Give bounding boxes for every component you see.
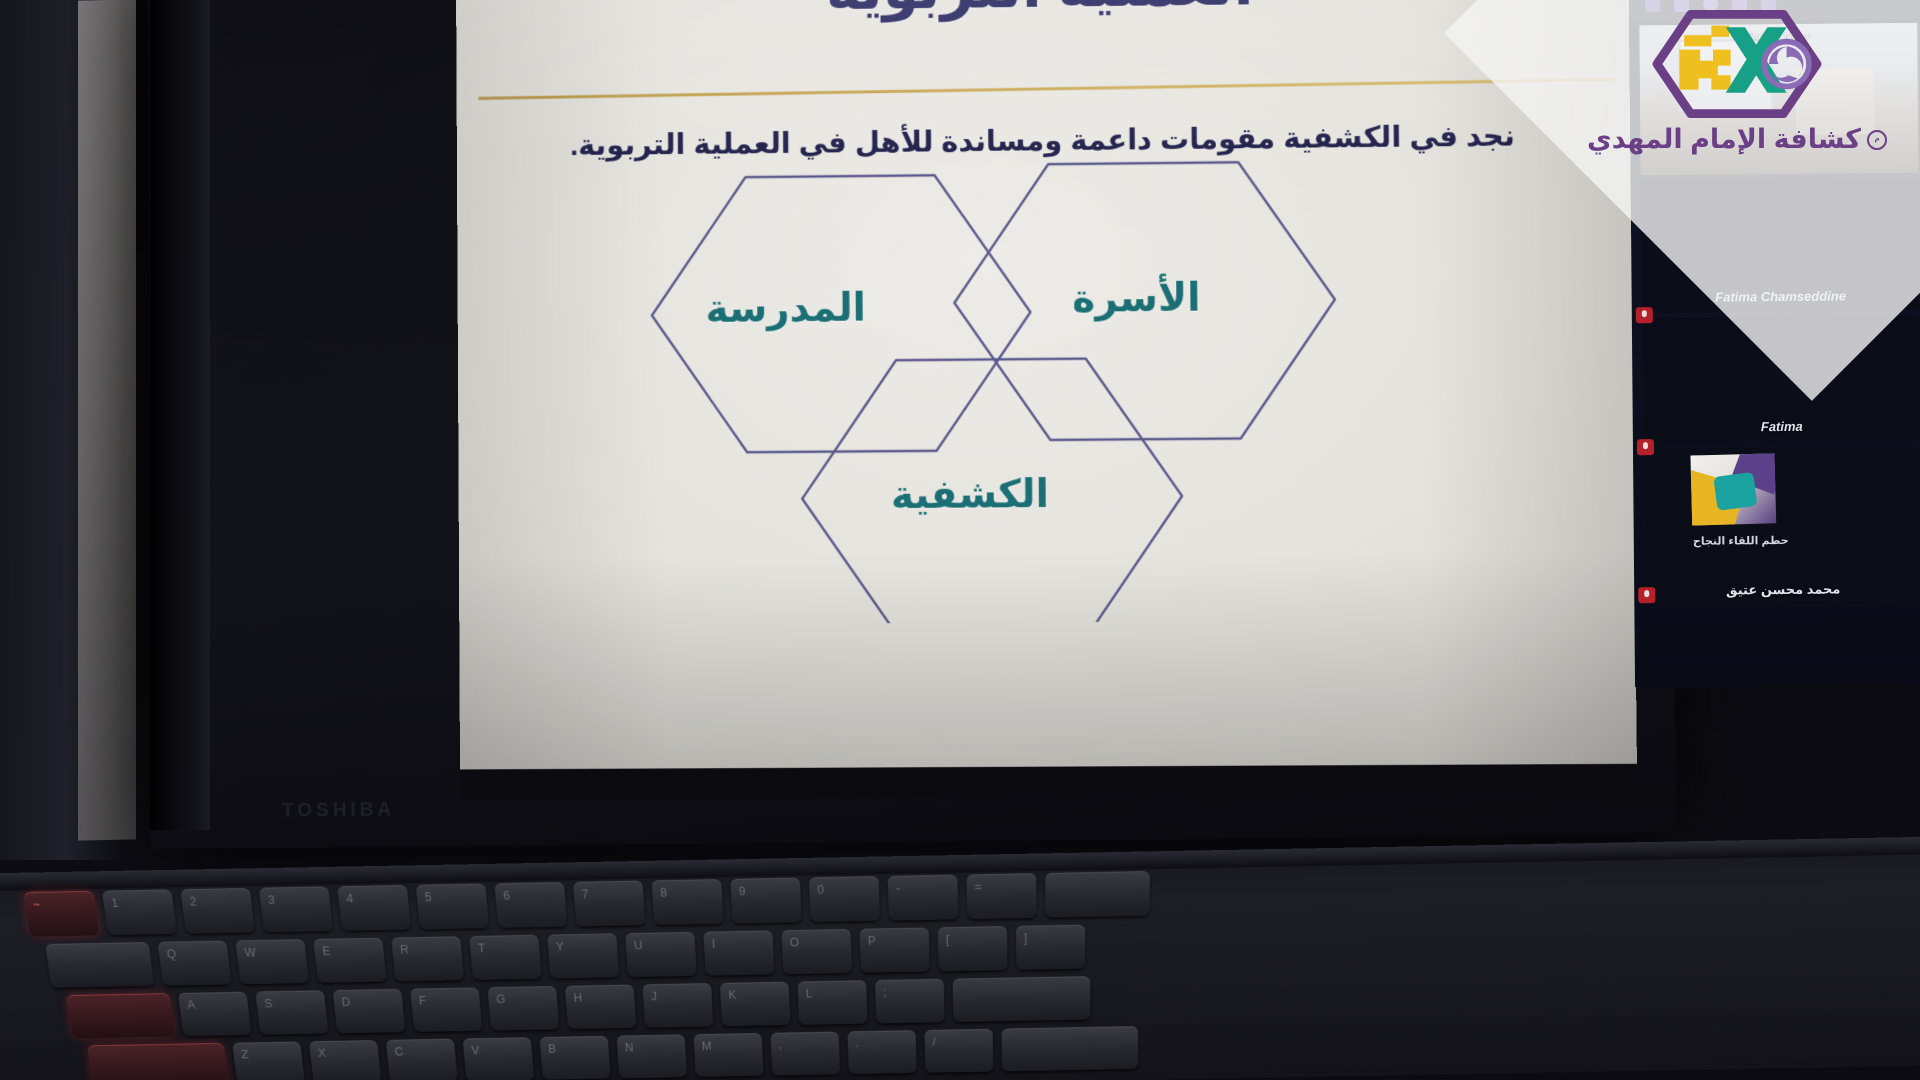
participant-name: حطم اللقاء النجاح <box>1656 534 1826 548</box>
key-enter[interactable] <box>953 976 1091 1022</box>
key-t[interactable]: T <box>469 935 542 980</box>
key-shift-left[interactable] <box>87 1043 228 1080</box>
hexagon-venn-diagram: المدرسة الأسرة الكشفية <box>544 147 1548 625</box>
laptop-base: ~ 1 2 3 4 5 6 7 8 9 0 - = Q W E R <box>0 836 1920 1080</box>
key-y[interactable]: Y <box>547 933 619 978</box>
key-2[interactable]: 2 <box>180 888 255 934</box>
key-a[interactable]: A <box>178 992 252 1036</box>
key-equals[interactable]: = <box>966 873 1036 919</box>
key-u[interactable]: U <box>625 932 697 977</box>
key-v[interactable]: V <box>463 1037 535 1080</box>
key-h[interactable]: H <box>565 985 637 1030</box>
participant-tile[interactable]: Fatima <box>1642 315 1920 443</box>
key-8[interactable]: 8 <box>652 879 724 925</box>
muted-microphone-icon <box>1636 307 1653 323</box>
key-s[interactable]: S <box>255 990 328 1034</box>
window-in-video <box>1678 39 1773 112</box>
key-o[interactable]: O <box>781 929 852 974</box>
key-0[interactable]: 0 <box>809 876 880 922</box>
key-q[interactable]: Q <box>157 941 231 986</box>
key-l[interactable]: L <box>797 980 867 1025</box>
participant-name: محمد محسن عتيق <box>1644 581 1920 599</box>
chat-icon[interactable] <box>1674 0 1689 11</box>
reactions-icon[interactable] <box>1732 0 1747 11</box>
muted-microphone-icon <box>1638 587 1655 603</box>
key-m[interactable]: M <box>693 1033 763 1077</box>
participant-tile[interactable]: محمد محسن عتيق <box>1643 445 1920 607</box>
key-shift-right[interactable] <box>1001 1026 1138 1071</box>
key-d[interactable]: D <box>333 989 406 1033</box>
video-call-sidebar[interactable]: Daloul Nour Fatima Chamseddine Fatima مح… <box>1629 0 1920 687</box>
key-minus[interactable]: - <box>888 875 959 921</box>
hexagon-label-scout: الكشفية <box>891 472 1049 518</box>
key-tab[interactable] <box>45 942 154 988</box>
key-b[interactable]: B <box>539 1036 610 1080</box>
key-backspace[interactable] <box>1045 871 1150 918</box>
key-semicolon[interactable]: ; <box>875 979 945 1024</box>
key-bracket-right[interactable]: ] <box>1016 925 1085 970</box>
key-x[interactable]: X <box>309 1040 381 1080</box>
participant-name: Fatima <box>1643 418 1920 435</box>
key-n[interactable]: N <box>616 1034 687 1078</box>
key-tilde[interactable]: ~ <box>23 891 99 937</box>
photograph-of-laptop: TOSHIBA العملية التربوية نجد في الكشفية … <box>0 0 1920 1080</box>
key-e[interactable]: E <box>313 938 386 983</box>
hexagon-label-school: المدرسة <box>705 286 866 332</box>
object-in-video <box>1795 68 1873 135</box>
badge-shape-teal <box>1713 472 1757 511</box>
muted-microphone-icon <box>1637 439 1654 455</box>
participant-name: Daloul Nour <box>1639 29 1917 43</box>
hexagon-label-family: الأسرة <box>1072 276 1201 322</box>
key-w[interactable]: W <box>235 939 309 984</box>
scout-badge-thumbnail[interactable] <box>1690 453 1776 525</box>
key-4[interactable]: 4 <box>337 885 411 931</box>
participants-icon[interactable] <box>1645 0 1660 12</box>
key-capslock[interactable] <box>66 993 174 1038</box>
title-divider-rule <box>478 78 1616 100</box>
call-toolbar[interactable] <box>1629 0 1920 21</box>
key-7[interactable]: 7 <box>573 881 646 927</box>
participant-name: Fatima Chamseddine <box>1642 288 1920 305</box>
laptop-keyboard[interactable]: ~ 1 2 3 4 5 6 7 8 9 0 - = Q W E R <box>5 855 1900 1080</box>
key-9[interactable]: 9 <box>730 878 802 924</box>
key-r[interactable]: R <box>391 936 464 981</box>
display-bottom-band <box>460 764 1637 800</box>
participant-video-feed <box>1639 23 1918 175</box>
participant-tile[interactable]: Fatima Chamseddine <box>1641 179 1920 313</box>
key-comma[interactable]: , <box>770 1032 840 1076</box>
key-bracket-left[interactable]: [ <box>938 926 1008 971</box>
more-options-icon[interactable] <box>1761 0 1776 11</box>
key-j[interactable]: J <box>642 983 713 1028</box>
laptop-display: العملية التربوية نجد في الكشفية مقومات د… <box>456 0 1637 799</box>
key-c[interactable]: C <box>386 1039 458 1080</box>
key-g[interactable]: G <box>487 986 559 1031</box>
key-p[interactable]: P <box>859 928 929 973</box>
presentation-slide: العملية التربوية نجد في الكشفية مقومات د… <box>456 0 1637 777</box>
share-screen-icon[interactable] <box>1703 0 1718 11</box>
key-1[interactable]: 1 <box>102 889 177 935</box>
key-slash[interactable]: / <box>924 1029 993 1073</box>
laptop-lid-left-edge <box>150 0 210 830</box>
key-5[interactable]: 5 <box>416 884 489 930</box>
hexagon-outlines-svg <box>544 147 1548 625</box>
key-i[interactable]: I <box>703 930 774 975</box>
participant-tile[interactable]: Daloul Nour <box>1639 23 1918 175</box>
laptop-brand-label: TOSHIBA <box>282 799 395 822</box>
key-k[interactable]: K <box>720 982 791 1027</box>
key-6[interactable]: 6 <box>494 882 567 928</box>
key-z[interactable]: Z <box>232 1041 305 1080</box>
slide-title: العملية التربوية <box>456 0 1629 27</box>
key-3[interactable]: 3 <box>259 886 333 932</box>
paper-sheet-on-wall <box>78 0 136 841</box>
key-period[interactable]: . <box>847 1030 916 1074</box>
key-f[interactable]: F <box>410 987 482 1031</box>
